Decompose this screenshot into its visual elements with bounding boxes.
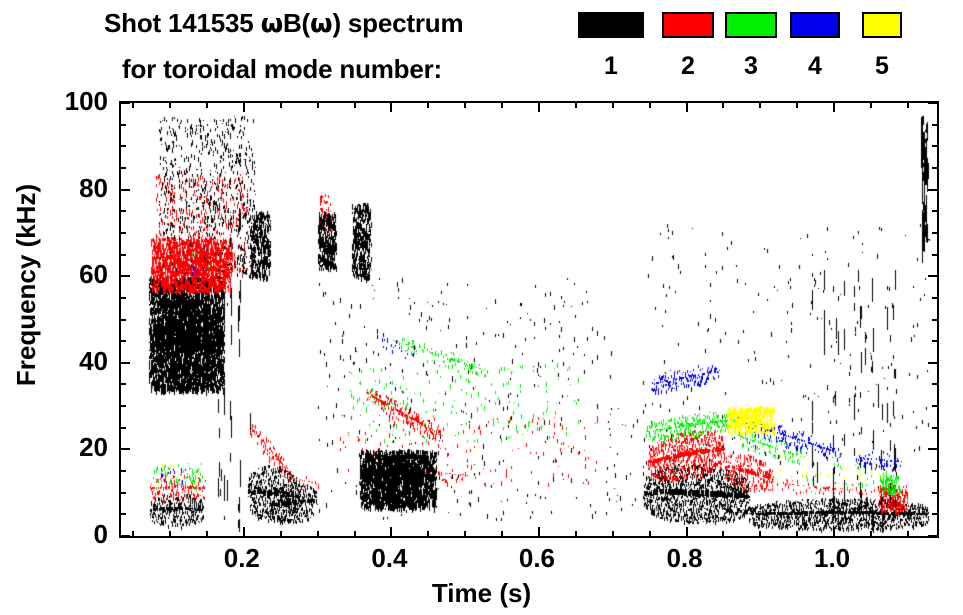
y-tick-left-50 [121,319,126,321]
y-tick-right-10 [932,492,937,494]
x-tick-top-0.05 [132,103,134,108]
y-tick-right-80 [928,189,937,191]
x-tick-bottom-0.9 [759,531,761,536]
x-tick-top-0.25 [280,103,282,108]
y-tick-left-40 [121,362,130,364]
x-tick-bottom-0.55 [501,531,503,536]
x-tick-bottom-0.75 [649,531,651,536]
spectrogram-figure: Shot 141535 ωB(ω) spectrum for toroidal … [0,0,963,615]
x-tick-top-0.9 [759,103,761,108]
legend-label-n4: 4 [790,54,840,79]
spectrogram-canvas [121,103,937,536]
legend-entry-n5[interactable]: 5 [862,12,902,90]
y-tick-right-20 [928,448,937,450]
y-tick-left-60 [121,275,130,277]
y-tick-right-65 [932,254,937,256]
y-tick-left-15 [121,470,126,472]
y-tick-right-70 [932,232,937,234]
x-axis-title: Time (s) [0,580,963,606]
x-tick-bottom-0.7 [612,531,614,536]
title-shot-text: Shot 141535 [104,8,261,38]
x-tick-top-0.3 [317,103,319,108]
y-tick-left-25 [121,427,126,429]
y-tick-right-75 [932,210,937,212]
y-tick-left-20 [121,448,130,450]
omega-symbol-1: ω [261,9,283,39]
x-tick-label-1.0: 1.0 [814,545,850,571]
y-tick-left-30 [121,405,126,407]
x-tick-top-0.95 [796,103,798,108]
legend-swatch-n1 [578,12,644,38]
x-tick-bottom-0.8 [686,527,688,536]
x-tick-top-0.5 [464,103,466,108]
y-tick-right-90 [932,145,937,147]
x-tick-top-0.55 [501,103,503,108]
y-tick-right-50 [932,319,937,321]
legend-label-n3: 3 [725,54,777,79]
y-axis-title: Frequency (kHz) [13,155,39,415]
y-tick-right-95 [932,124,937,126]
x-tick-label-0.2: 0.2 [224,545,260,571]
x-tick-top-1.05 [870,103,872,108]
x-tick-top-0.1 [169,103,171,108]
x-axis-tick-labels: 0.20.40.60.81.0 [0,545,963,577]
y-tick-right-25 [932,427,937,429]
y-tick-left-35 [121,383,126,385]
x-tick-top-0.15 [206,103,208,108]
y-tick-right-55 [932,297,937,299]
omega-symbol-2: ω [310,9,332,39]
plot-area [119,101,939,538]
y-tick-right-35 [932,383,937,385]
x-tick-top-1.1 [907,103,909,108]
x-tick-top-0.65 [575,103,577,108]
legend-swatch-n3 [725,12,777,38]
x-tick-bottom-0.2 [243,527,245,536]
x-tick-bottom-1 [833,527,835,536]
x-tick-top-0.8 [686,103,688,112]
legend-label-n1: 1 [578,54,644,79]
y-tick-left-85 [121,167,126,169]
y-tick-right-40 [928,362,937,364]
x-tick-bottom-0.4 [390,527,392,536]
x-tick-top-1 [833,103,835,112]
x-tick-top-0.75 [649,103,651,108]
x-tick-top-0.85 [722,103,724,108]
x-tick-label-0.6: 0.6 [519,545,555,571]
y-tick-label-0: 0 [8,521,108,547]
y-tick-left-65 [121,254,126,256]
legend-swatch-n5 [862,12,902,38]
x-tick-top-0.45 [427,103,429,108]
y-tick-right-15 [932,470,937,472]
y-tick-right-5 [932,513,937,515]
y-tick-left-100 [121,102,130,104]
legend-swatch-n2 [662,12,714,38]
y-tick-left-0 [121,535,130,537]
y-tick-right-100 [928,102,937,104]
x-tick-bottom-1.05 [870,531,872,536]
y-tick-left-70 [121,232,126,234]
x-tick-top-0.7 [612,103,614,108]
legend: 12345 [578,12,908,90]
x-tick-top-0.35 [354,103,356,108]
legend-label-n2: 2 [662,54,714,79]
legend-entry-n3[interactable]: 3 [725,12,777,90]
x-tick-bottom-0.35 [354,531,356,536]
y-tick-left-45 [121,340,126,342]
y-tick-right-45 [932,340,937,342]
y-tick-right-0 [928,535,937,537]
x-tick-bottom-0.3 [317,531,319,536]
legend-entry-n2[interactable]: 2 [662,12,714,90]
legend-entry-n4[interactable]: 4 [790,12,840,90]
x-tick-bottom-1.1 [907,531,909,536]
y-tick-left-55 [121,297,126,299]
y-tick-left-75 [121,210,126,212]
y-tick-left-80 [121,189,130,191]
legend-label-n5: 5 [862,54,902,79]
title-spectrum-text: ) spectrum [332,8,463,38]
x-tick-bottom-0.05 [132,531,134,536]
y-tick-right-85 [932,167,937,169]
x-tick-top-0.4 [390,103,392,112]
legend-entry-n1[interactable]: 1 [578,12,644,90]
x-tick-bottom-0.25 [280,531,282,536]
x-tick-label-0.8: 0.8 [666,545,702,571]
x-tick-bottom-0.6 [538,527,540,536]
x-tick-bottom-0.1 [169,531,171,536]
plot-title-line-1: Shot 141535 ωB(ω) spectrum [104,10,463,37]
x-tick-bottom-0.95 [796,531,798,536]
plot-title-line-2: for toroidal mode number: [122,56,442,82]
y-tick-right-30 [932,405,937,407]
x-tick-label-0.4: 0.4 [371,545,407,571]
y-tick-left-10 [121,492,126,494]
y-tick-left-90 [121,145,126,147]
title-B-open: B( [283,8,310,38]
y-tick-label-20: 20 [8,434,108,460]
y-tick-label-100: 100 [8,88,108,114]
y-tick-right-60 [928,275,937,277]
x-tick-top-0.2 [243,103,245,112]
y-tick-left-95 [121,124,126,126]
x-tick-bottom-0.15 [206,531,208,536]
x-tick-bottom-0.45 [427,531,429,536]
x-tick-bottom-0.85 [722,531,724,536]
y-tick-left-5 [121,513,126,515]
x-tick-bottom-0.65 [575,531,577,536]
x-tick-bottom-0.5 [464,531,466,536]
x-tick-top-0.6 [538,103,540,112]
legend-swatch-n4 [790,12,840,38]
